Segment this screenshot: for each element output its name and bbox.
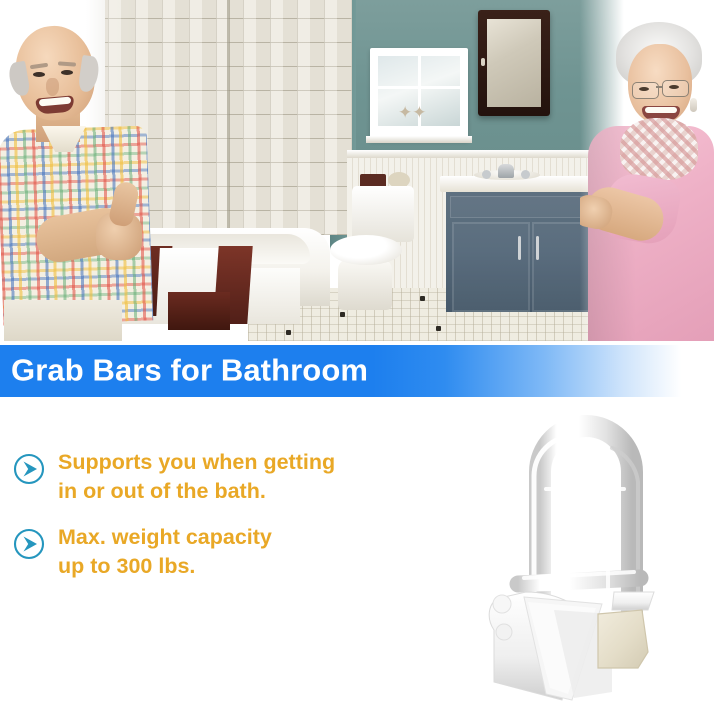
man-eye-right: [61, 70, 73, 75]
page-title: Grab Bars for Bathroom: [11, 352, 368, 388]
lifestyle-photo: ✦✦: [0, 0, 717, 341]
grab-bar-crossbar: [542, 489, 630, 495]
window-sill: [366, 136, 472, 143]
elderly-man: [0, 0, 196, 341]
floor-accent-dot: [286, 330, 291, 335]
woman-earring: [690, 98, 697, 112]
vanity-handle-right: [536, 236, 539, 260]
toilet-lid: [330, 235, 402, 265]
floor-accent-dot: [420, 296, 425, 301]
product-photo-grab-bar: [462, 352, 717, 717]
woman-eyeglass-bridge: [656, 86, 663, 88]
faucet-handle-left: [482, 170, 491, 179]
man-trousers: [4, 300, 122, 341]
floor-accent-dot: [436, 326, 441, 331]
rubber-grip-pad: [598, 610, 648, 668]
man-eye-left: [33, 72, 45, 77]
mirror-knob: [481, 58, 485, 66]
chevron-circle-icon: [13, 453, 45, 485]
starfish-decor: ✦✦: [398, 104, 420, 122]
vanity-handle-left: [518, 236, 521, 260]
woman-teeth: [645, 107, 677, 113]
feature-text: Max. weight capacity up to 300 lbs.: [58, 523, 272, 581]
elderly-woman: [580, 0, 717, 341]
woman-patterned-scarf: [620, 118, 698, 180]
woman-eye-right: [669, 85, 679, 89]
toilet-tank: [352, 186, 414, 242]
feature-text: Supports you when getting in or out of t…: [58, 448, 335, 506]
man-nose: [46, 78, 59, 96]
clamp-body: [489, 592, 612, 700]
product-marketing-image: ✦✦: [0, 0, 717, 717]
faucet: [498, 164, 514, 178]
toilet-bowl: [338, 258, 392, 310]
tile-corner: [227, 0, 230, 235]
chevron-circle-icon: [13, 528, 45, 560]
mirror-glass: [487, 19, 541, 107]
window-mullion-horizontal: [378, 86, 460, 89]
faucet-handle-right: [521, 170, 530, 179]
woman-eye-left: [639, 87, 649, 91]
floor-accent-dot: [340, 312, 345, 317]
